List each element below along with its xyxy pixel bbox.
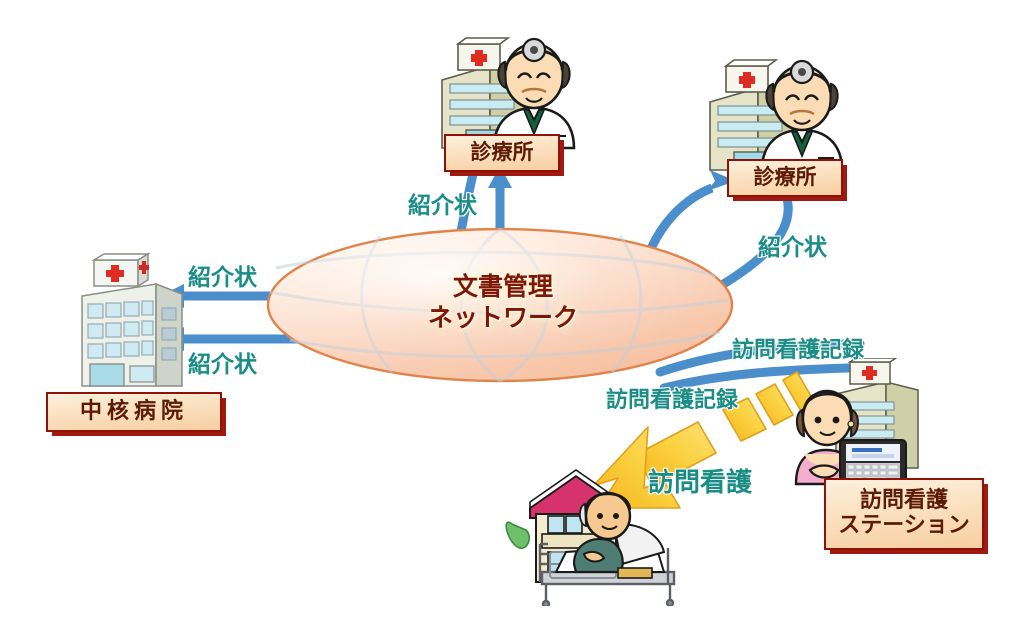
core-hospital-label[interactable]: 中核病院: [46, 392, 222, 432]
nurse-tablet-icon: [790, 358, 936, 486]
edge-label-referral-hospital-2: 紹介状: [188, 345, 257, 379]
network-hub-line2: ネットワーク: [368, 303, 638, 334]
core-hospital-label-text: 中核病院: [80, 400, 188, 425]
edge-label-nursing-record-2: 訪問看護記録: [606, 382, 738, 414]
network-hub-line1: 文書管理: [368, 272, 638, 303]
clinic-doctor-icon: [700, 44, 860, 172]
diagram-canvas: 診療所: [0, 0, 1024, 619]
clinic-right-label-text: 診療所: [754, 166, 817, 190]
edge-label-referral-top: 紹介状: [408, 186, 477, 220]
edge-label-nursing-record-1: 訪問看護記録: [732, 332, 864, 364]
clinic-doctor-icon: [432, 22, 592, 150]
nurse-station-label-line1: 訪問看護: [860, 489, 948, 514]
clinic-top-label[interactable]: 診療所: [444, 134, 560, 172]
edge-label-referral-right: 紹介状: [758, 228, 827, 262]
nurse-station-label[interactable]: 訪問看護 ステーション: [824, 478, 984, 550]
hospital-building-icon: [68, 248, 194, 388]
clinic-right-label[interactable]: 診療所: [727, 159, 843, 197]
network-hub-label: 文書管理 ネットワーク: [368, 272, 638, 333]
edge-label-home-visit: 訪問看護: [648, 462, 752, 499]
clinic-top-label-text: 診療所: [471, 141, 534, 165]
nurse-station-label-line2: ステーション: [838, 514, 970, 539]
edge-label-referral-hospital-1: 紹介状: [188, 258, 257, 292]
